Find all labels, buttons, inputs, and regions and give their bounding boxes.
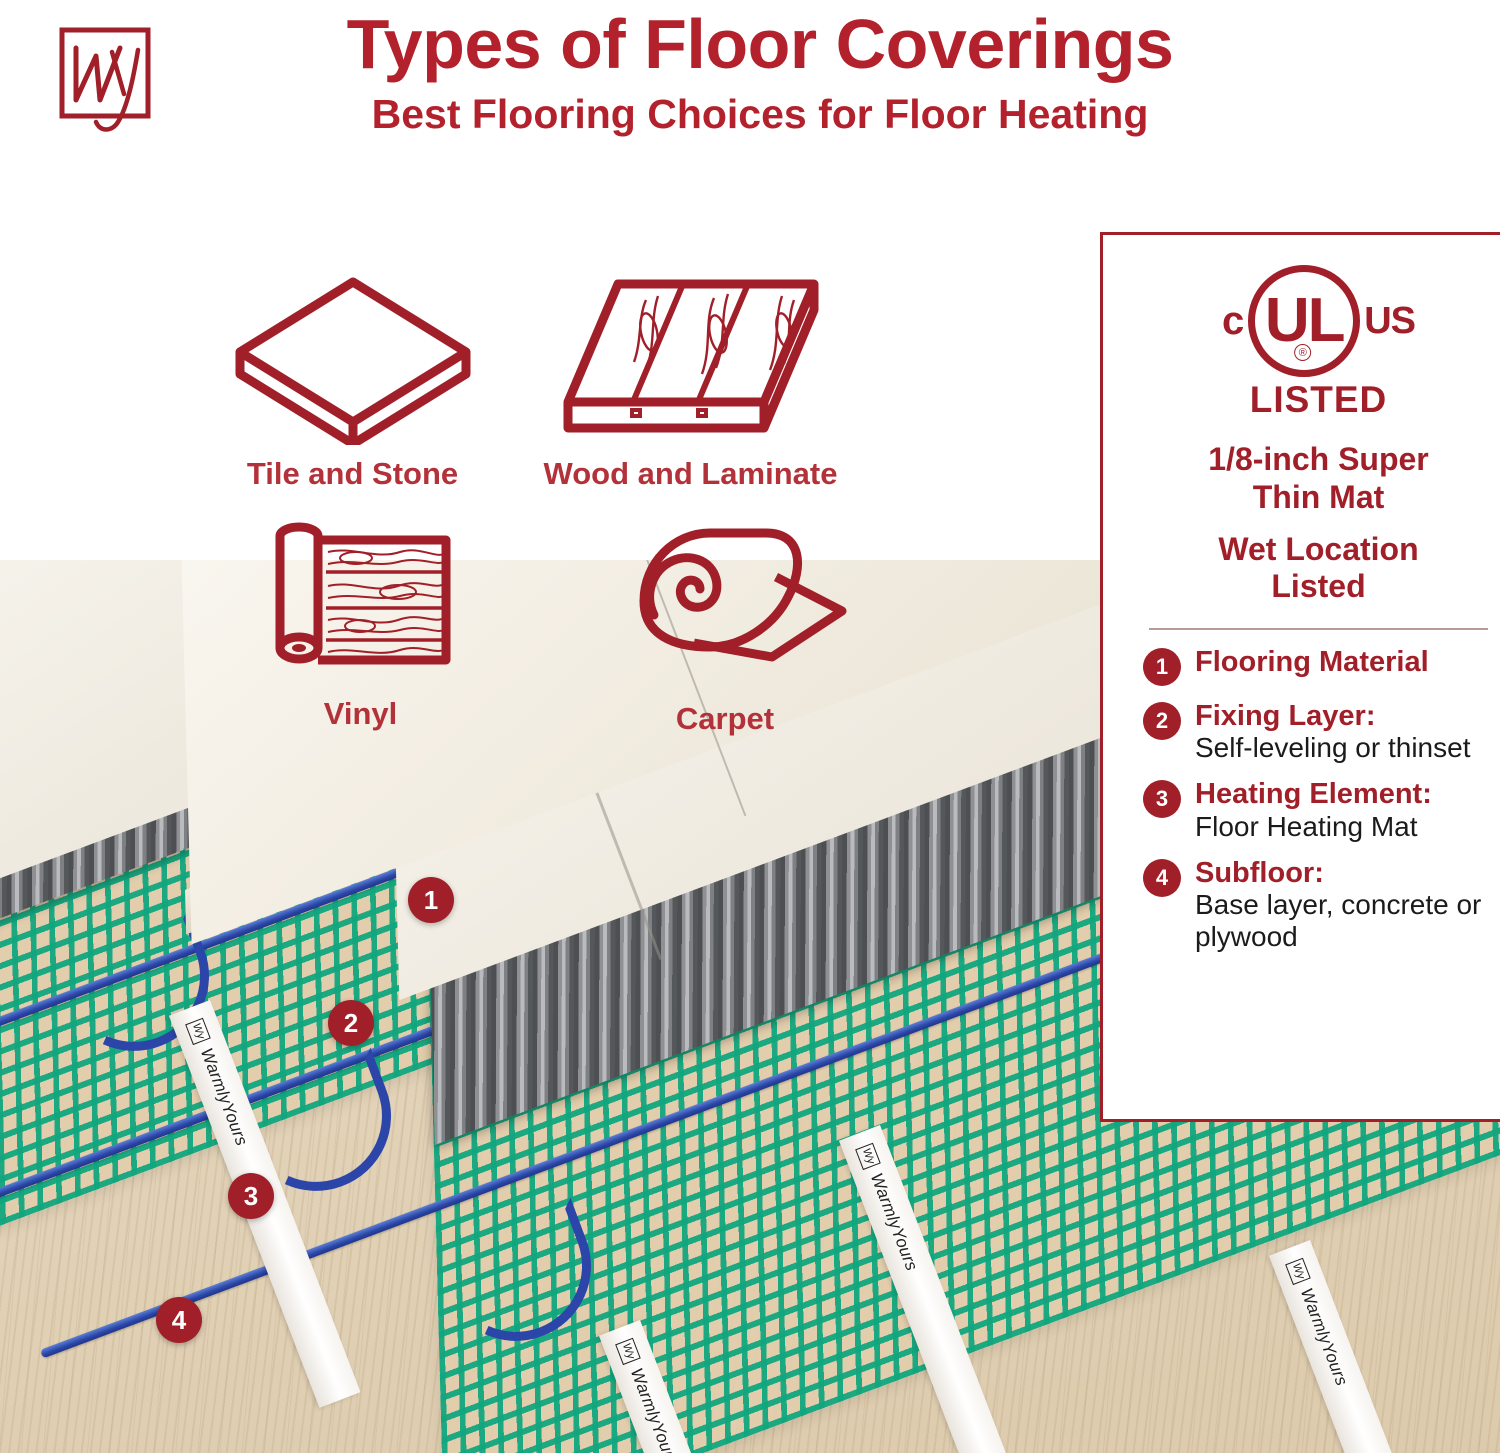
headline-line-2: Thin Mat	[1143, 479, 1494, 517]
legend-title-3: Heating Element:	[1195, 778, 1494, 810]
callout-badge-4: 4	[156, 1297, 202, 1343]
wy-mark-icon: Wy	[186, 1018, 212, 1045]
ul-letters: UL	[1265, 290, 1344, 352]
callout-badge-3: 3	[228, 1173, 274, 1219]
ul-listed-mark: c UL ® US LISTED	[1143, 265, 1494, 421]
panel-divider	[1149, 628, 1488, 630]
flooring-type-vinyl[interactable]: Vinyl	[233, 510, 488, 732]
layer-legend-list: 1 Flooring Material 2 Fixing Layer: Self…	[1143, 646, 1494, 953]
carpet-roll-icon	[590, 515, 860, 690]
legend-number-3: 3	[1143, 780, 1181, 818]
ul-prefix-c: c	[1222, 301, 1244, 341]
legend-desc-3: Floor Heating Mat	[1195, 811, 1494, 843]
wy-mark-icon: Wy	[1286, 1258, 1312, 1285]
wood-planks-icon	[546, 270, 836, 445]
legend-item-1: 1 Flooring Material	[1143, 646, 1494, 686]
tile-diamond-icon	[228, 270, 478, 445]
registered-icon: ®	[1294, 344, 1311, 361]
page-title: Types of Floor Coverings	[300, 8, 1220, 82]
flooring-types-group: Tile and Stone Wood and Laminate	[215, 270, 975, 770]
legend-desc-2: Self-leveling or thinset	[1195, 732, 1494, 764]
page-header: Types of Floor Coverings Best Flooring C…	[0, 0, 1500, 200]
legend-number-2: 2	[1143, 702, 1181, 740]
panel-headline-thin-mat: 1/8-inch Super Thin Mat	[1143, 441, 1494, 517]
flooring-type-carpet[interactable]: Carpet	[570, 515, 880, 737]
title-block: Types of Floor Coverings Best Flooring C…	[300, 8, 1220, 139]
legend-item-2: 2 Fixing Layer: Self-leveling or thinset	[1143, 700, 1494, 764]
legend-desc-4: Base layer, concrete or plywood	[1195, 889, 1494, 953]
ul-circle-icon: UL ®	[1248, 265, 1360, 377]
wy-mark-icon: Wy	[616, 1338, 642, 1365]
headline-line-3: Wet Location	[1143, 531, 1494, 569]
ul-suffix-us: US	[1364, 302, 1415, 340]
panel-headline-wet-location: Wet Location Listed	[1143, 531, 1494, 607]
legend-title-2: Fixing Layer:	[1195, 700, 1494, 732]
flooring-type-wood[interactable]: Wood and Laminate	[503, 270, 878, 492]
ul-listed-text: LISTED	[1143, 379, 1494, 421]
legend-item-3: 3 Heating Element: Floor Heating Mat	[1143, 778, 1494, 842]
warmlyyours-logo	[46, 22, 168, 140]
legend-title-1: Flooring Material	[1195, 646, 1494, 678]
flooring-type-label: Vinyl	[233, 696, 488, 732]
flooring-type-label: Carpet	[570, 701, 880, 737]
legend-number-1: 1	[1143, 648, 1181, 686]
flooring-type-label: Tile and Stone	[215, 456, 490, 492]
vinyl-roll-icon	[248, 510, 473, 685]
legend-number-4: 4	[1143, 859, 1181, 897]
flooring-type-label: Wood and Laminate	[503, 456, 878, 492]
callout-badge-1: 1	[408, 877, 454, 923]
infographic-canvas: Wy WarmlyYours Wy WarmlyYours Wy WarmlyY…	[0, 0, 1500, 1453]
headline-line-1: 1/8-inch Super	[1143, 441, 1494, 479]
legend-title-4: Subfloor:	[1195, 857, 1494, 889]
legend-item-4: 4 Subfloor: Base layer, concrete or plyw…	[1143, 857, 1494, 953]
wy-mark-icon: Wy	[856, 1143, 882, 1170]
callout-badge-2: 2	[328, 1000, 374, 1046]
ul-info-panel: c UL ® US LISTED 1/8-inch Super Thin Mat…	[1100, 232, 1500, 1122]
headline-line-4: Listed	[1143, 568, 1494, 606]
page-subtitle: Best Flooring Choices for Floor Heating	[300, 90, 1220, 139]
flooring-type-tile[interactable]: Tile and Stone	[215, 270, 490, 492]
